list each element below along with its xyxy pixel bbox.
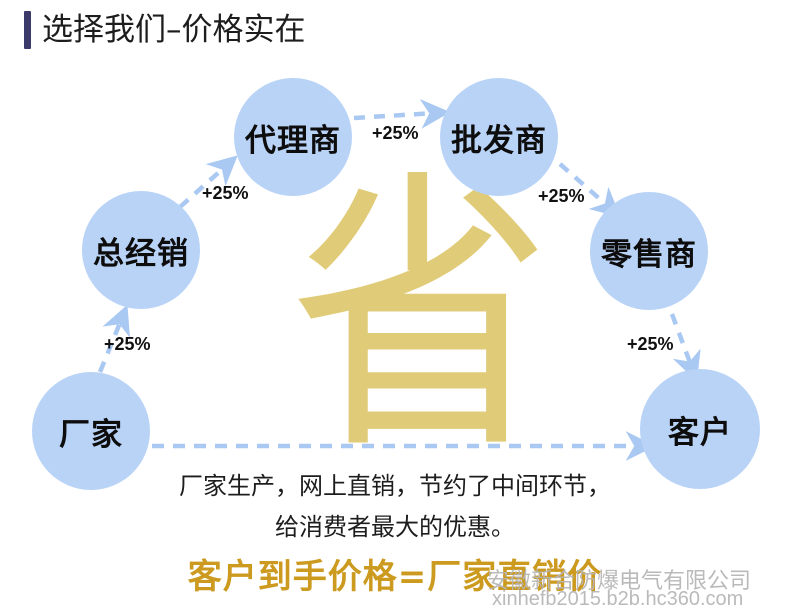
node-agent-label: 代理商 [245,115,341,160]
node-factory-label: 厂家 [59,409,123,454]
center-glyph: 省 [320,185,520,450]
markup-label-agent-to-wholesaler: +25% [372,123,419,144]
arrow-agent-to-wholesaler [354,113,436,118]
markup-label-distributor-to-agent: +25% [202,183,249,204]
slide-canvas: 选择我们–价格实在 [0,0,790,612]
node-wholesaler-label: 批发商 [451,115,547,160]
node-distributor[interactable]: 总经销 [82,191,200,309]
center-glyph-char: 省 [289,170,552,465]
node-retailer[interactable]: 零售商 [590,192,708,310]
node-agent[interactable]: 代理商 [234,78,352,196]
markup-label-retailer-to-customer: +25% [627,334,674,355]
arrow-retailer-to-customer [672,314,692,368]
footer-line-1: 厂家生产，网上直销，节约了中间环节， [0,466,790,501]
node-retailer-label: 零售商 [601,229,697,274]
watermark-site: xinhefb2015.b2b.hc360.com [492,588,743,611]
markup-label-wholesaler-to-retailer: +25% [538,186,585,207]
node-wholesaler[interactable]: 批发商 [440,78,558,196]
node-customer-label: 客户 [668,407,732,452]
node-distributor-label: 总经销 [93,228,189,273]
footer-line-2: 给消费者最大的优惠。 [0,507,790,542]
markup-label-factory-to-distributor: +25% [104,334,151,355]
